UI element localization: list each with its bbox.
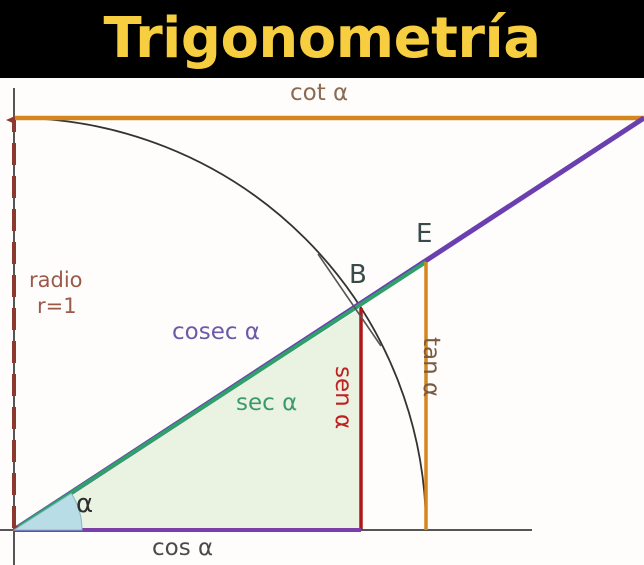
trigonometry-figure: Trigonometría	[0, 0, 644, 565]
diagram-canvas: cot α radio r=1 B E cosec α sec α sen α …	[0, 78, 644, 565]
label-cos: cos α	[152, 535, 213, 561]
label-sen: sen α	[330, 366, 356, 429]
page-title: Trigonometría	[104, 11, 541, 67]
label-point-b: B	[349, 260, 367, 290]
label-point-e: E	[416, 219, 432, 249]
label-cosec: cosec α	[172, 319, 260, 345]
label-angle-alpha: α	[76, 489, 93, 519]
label-radio-line2: r=1	[37, 294, 77, 318]
label-tan: tan α	[418, 337, 444, 397]
label-sec: sec α	[236, 390, 297, 416]
label-radio-line1: radio	[29, 268, 83, 292]
label-cot: cot α	[290, 80, 348, 106]
title-banner: Trigonometría	[0, 0, 644, 78]
angle-sector	[14, 493, 82, 530]
